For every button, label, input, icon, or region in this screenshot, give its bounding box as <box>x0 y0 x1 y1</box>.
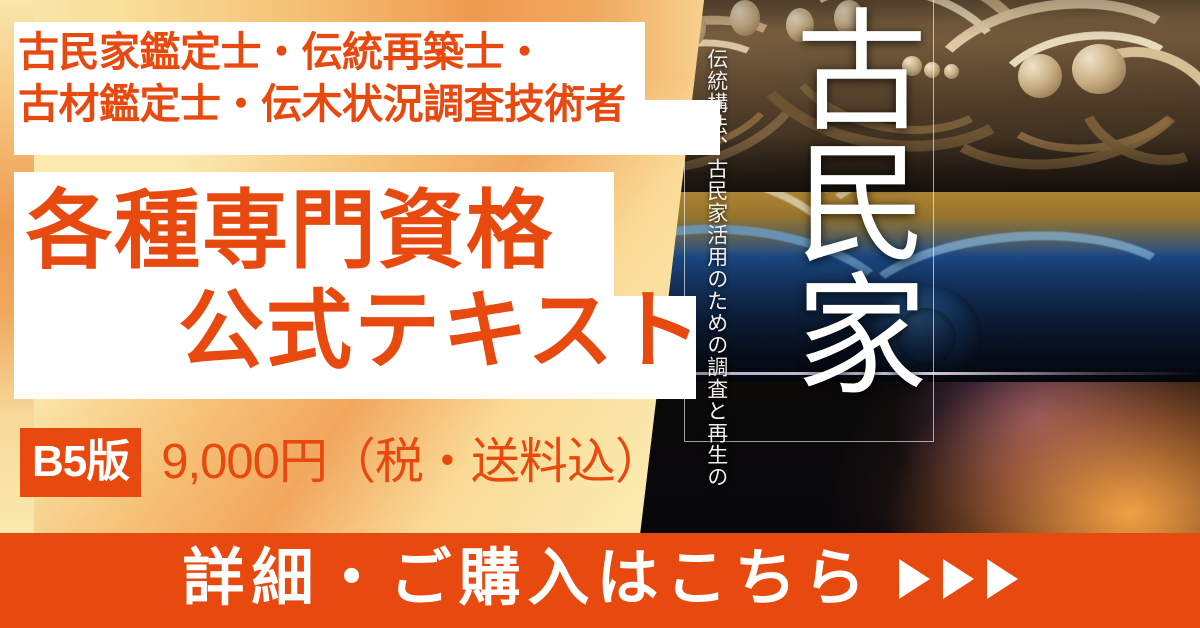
cta-label: 詳細・ご購入はこちら <box>182 548 872 614</box>
cta-arrows <box>899 559 1018 603</box>
qualifications-line-1: 古民家鑑定士・伝統再築士・ <box>18 26 718 78</box>
price-label: 9,000円（税・送料込） <box>161 438 663 487</box>
qualifications-line-2: 古材鑑定士・伝木状況調査技術者 <box>18 78 718 130</box>
qualifications-heading: 古民家鑑定士・伝統再築士・ 古材鑑定士・伝木状況調査技術者 <box>18 26 718 130</box>
format-badge: B5版 <box>20 428 141 497</box>
cover-title: 古民家 <box>706 2 916 432</box>
triangle-right-icon <box>943 559 974 599</box>
main-heading-line-2: 公式テキスト <box>178 281 703 381</box>
promo-banner: 古民家 伝統構法、古民家活用のための調査と再生の 古民家鑑定士・伝統再築士・ 古… <box>0 0 1200 628</box>
price-row: B5版 9,000円（税・送料込） <box>20 428 663 497</box>
cta-bar[interactable]: 詳細・ご購入はこちら <box>0 533 1200 628</box>
triangle-right-icon <box>899 559 930 599</box>
main-heading-line-1: 各種専門資格 <box>26 181 554 281</box>
triangle-right-icon <box>987 559 1018 599</box>
